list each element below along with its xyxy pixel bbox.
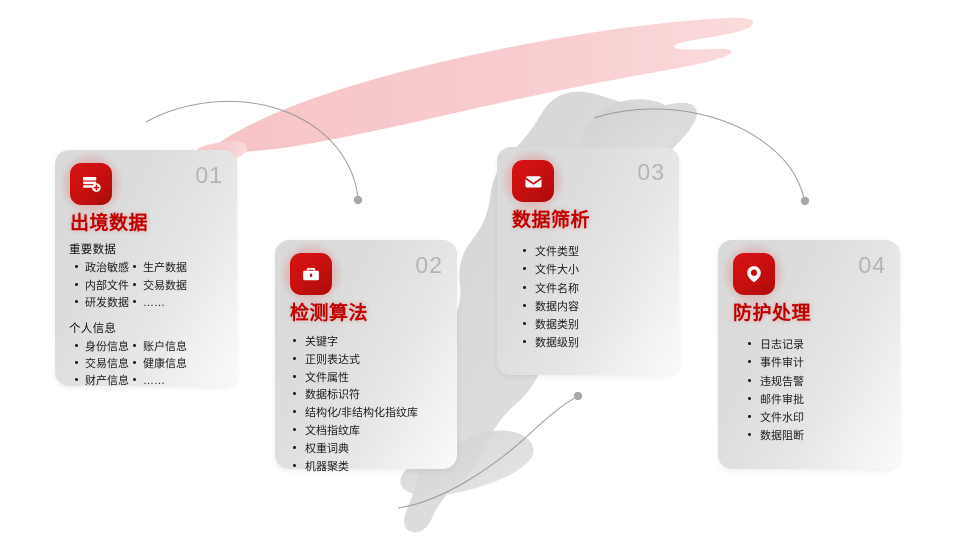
list-item[interactable]: 数据阻断 [748,427,892,445]
bullet-list: 文件类型 文件大小 文件名称 数据内容 数据类别 数据级别 [519,243,671,353]
bullet-dot-icon [75,300,78,303]
bullet-dot-icon [293,375,296,378]
bullet-dot-icon [523,249,526,252]
bullet-dot-icon [523,340,526,343]
icon-tile [512,160,554,202]
list-item-label: 数据内容 [535,298,579,316]
step-card-1[interactable]: 01 出境数据 重要数据 政治敏感 内部文件 研发数据 生产数据 交易数据 …… [55,150,237,386]
bullet-dot-icon [75,344,78,347]
bullet-dot-icon [523,304,526,307]
bullet-column-left: 身份信息 交易信息 财产信息 [75,339,129,390]
bullet-dot-icon [75,283,78,286]
list-item-label: …… [143,373,165,390]
bullet-column-right: 账户信息 健康信息 …… [133,339,187,390]
icon-tile [70,163,112,205]
bullet-dot-icon [523,286,526,289]
list-item-label: 数据标识符 [305,387,360,405]
bullet-dot-icon [748,397,751,400]
list-item[interactable]: 文件名称 [523,280,671,298]
list-item[interactable]: 交易信息 [75,356,129,373]
list-item[interactable]: 事件审计 [748,354,892,372]
list-item-label: 结构化/非结构化指纹库 [305,405,418,423]
bullet-dot-icon [133,300,136,303]
list-item-label: 关键字 [305,334,338,352]
icon-tile [733,253,775,295]
bullet-list: 身份信息 交易信息 财产信息 [75,339,129,390]
briefcase-icon [290,253,332,295]
list-item-label: 文件水印 [760,409,804,427]
card-content: 重要数据 政治敏感 内部文件 研发数据 生产数据 交易数据 …… [55,242,237,390]
bullet-dot-icon [293,410,296,413]
list-item[interactable]: 交易数据 [133,278,187,295]
list-item-label: 身份信息 [85,339,129,356]
pink-brush-stroke [196,18,753,163]
list-item[interactable]: …… [133,373,187,390]
bullet-dot-icon [133,344,136,347]
bullet-dot-icon [293,428,296,431]
list-item[interactable]: 正则表达式 [293,352,449,370]
list-item[interactable]: 文档指纹库 [293,423,449,441]
envelope-icon [512,160,554,202]
bullet-dot-icon [75,378,78,381]
list-item[interactable]: 数据级别 [523,334,671,352]
list-item[interactable]: 研发数据 [75,295,129,312]
database-add-icon [70,163,112,205]
list-item-label: 生产数据 [143,260,187,277]
list-item[interactable]: 内部文件 [75,278,129,295]
list-item-label: 内部文件 [85,278,129,295]
bullet-dot-icon [293,392,296,395]
group-heading-personal: 个人信息 [69,321,227,338]
bullet-columns-personal: 身份信息 交易信息 财产信息 账户信息 健康信息 …… [69,339,227,390]
step-number: 04 [858,254,886,277]
list-item[interactable]: 日志记录 [748,336,892,354]
list-item[interactable]: 文件水印 [748,409,892,427]
bullet-dot-icon [748,433,751,436]
list-item-label: 文件类型 [535,243,579,261]
list-item[interactable]: 数据标识符 [293,387,449,405]
list-item-label: 权重词典 [305,441,349,459]
list-item-label: 文件名称 [535,280,579,298]
bullet-column-right: 生产数据 交易数据 …… [133,260,187,311]
card-title: 检测算法 [290,304,368,323]
group-heading-important: 重要数据 [69,242,227,259]
bullet-dot-icon [133,378,136,381]
list-item-label: 邮件审批 [760,391,804,409]
list-item-label: 财产信息 [85,373,129,390]
step-card-3[interactable]: 03 数据筛析 文件类型 文件大小 文件名称 数据内容 数据类别 数据级别 [497,147,679,375]
bullet-dot-icon [75,361,78,364]
card-title: 出境数据 [70,214,148,233]
list-item[interactable]: 健康信息 [133,356,187,373]
bullet-dot-icon [293,357,296,360]
list-item-label: 研发数据 [85,295,129,312]
bullet-dot-icon [748,360,751,363]
list-item[interactable]: 结构化/非结构化指纹库 [293,405,449,423]
bullet-list: 关键字 正则表达式 文件属性 数据标识符 结构化/非结构化指纹库 文档指纹库 权… [289,334,449,477]
list-item[interactable]: 数据内容 [523,298,671,316]
list-item-label: 账户信息 [143,339,187,356]
step-number: 02 [415,254,443,277]
list-item-label: 政治敏感 [85,260,129,277]
list-item[interactable]: 身份信息 [75,339,129,356]
step-number: 03 [637,161,665,184]
bullet-dot-icon [748,379,751,382]
bullet-dot-icon [133,283,136,286]
list-item-label: 数据阻断 [760,427,804,445]
list-item[interactable]: 生产数据 [133,260,187,277]
list-item[interactable]: …… [133,295,187,312]
bullet-dot-icon [748,342,751,345]
card-title: 数据筛析 [512,211,590,230]
list-item-label: 数据类别 [535,316,579,334]
bullet-dot-icon [523,267,526,270]
bullet-list: 账户信息 健康信息 …… [133,339,187,390]
list-item[interactable]: 违规告警 [748,373,892,391]
bullet-list: 日志记录 事件审计 违规告警 邮件审批 文件水印 数据阻断 [744,336,892,446]
list-item[interactable]: 关键字 [293,334,449,352]
list-item[interactable]: 文件属性 [293,370,449,388]
bullet-dot-icon [133,265,136,268]
list-item-label: 日志记录 [760,336,804,354]
list-item[interactable]: 权重词典 [293,441,449,459]
bullet-dot-icon [133,361,136,364]
bullet-columns-important: 政治敏感 内部文件 研发数据 生产数据 交易数据 …… [69,260,227,311]
icon-tile [290,253,332,295]
bullet-dot-icon [75,265,78,268]
list-item-label: 文件大小 [535,261,579,279]
bullet-dot-icon [748,415,751,418]
bullet-dot-icon [293,339,296,342]
list-item[interactable]: 政治敏感 [75,260,129,277]
bullet-dot-icon [523,322,526,325]
list-item-label: 交易数据 [143,278,187,295]
list-item[interactable]: 邮件审批 [748,391,892,409]
bullet-dot-icon [293,464,296,467]
card-content: 文件类型 文件大小 文件名称 数据内容 数据类别 数据级别 [497,243,679,353]
list-item-label: 事件审计 [760,354,804,372]
list-item[interactable]: 数据类别 [523,316,671,334]
bullet-list: 政治敏感 内部文件 研发数据 [75,260,129,311]
step-card-2[interactable]: 02 检测算法 关键字 正则表达式 文件属性 数据标识符 结构化/非结构化指纹库… [275,240,457,469]
list-item[interactable]: 财产信息 [75,373,129,390]
bullet-dot-icon [293,446,296,449]
card-content: 日志记录 事件审计 违规告警 邮件审批 文件水印 数据阻断 [718,336,900,446]
list-item-label: 数据级别 [535,334,579,352]
list-item-label: 机器聚类 [305,459,349,477]
list-item-label: 违规告警 [760,373,804,391]
list-item[interactable]: 机器聚类 [293,459,449,477]
list-item-label: …… [143,295,165,312]
step-number: 01 [195,164,223,187]
list-item-label: 交易信息 [85,356,129,373]
list-item-label: 文件属性 [305,370,349,388]
list-item-label: 健康信息 [143,356,187,373]
list-item-label: 文档指纹库 [305,423,360,441]
list-item[interactable]: 文件大小 [523,261,671,279]
bullet-list: 生产数据 交易数据 …… [133,260,187,311]
list-item[interactable]: 账户信息 [133,339,187,356]
card-title: 防护处理 [733,304,811,323]
step-card-4[interactable]: 04 防护处理 日志记录 事件审计 违规告警 邮件审批 文件水印 数据阻断 [718,240,900,469]
list-item-label: 正则表达式 [305,352,360,370]
bullet-column-left: 政治敏感 内部文件 研发数据 [75,260,129,311]
location-pin-icon [733,253,775,295]
list-item[interactable]: 文件类型 [523,243,671,261]
card-content: 关键字 正则表达式 文件属性 数据标识符 结构化/非结构化指纹库 文档指纹库 权… [275,334,457,477]
infographic-canvas: 01 出境数据 重要数据 政治敏感 内部文件 研发数据 生产数据 交易数据 …… [0,0,960,540]
